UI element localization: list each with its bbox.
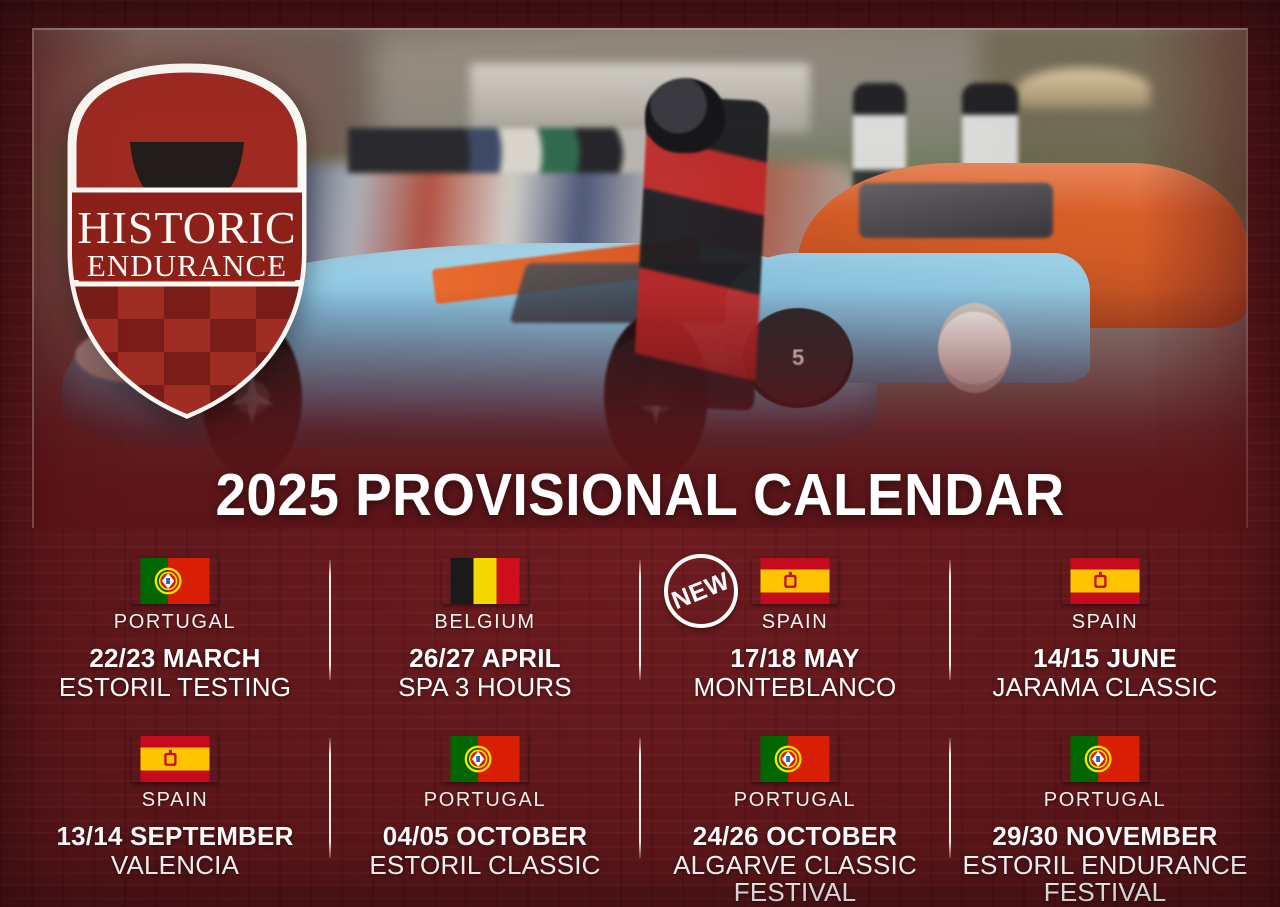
event-venue: ESTORIL CLASSIC (336, 852, 634, 880)
photo-porsche-window (859, 183, 1054, 238)
event-card-estoril-testing[interactable]: PORTUGAL 22/23 MARCH ESTORIL TESTING (20, 552, 330, 701)
event-dates: 22/23 MARCH (26, 644, 324, 673)
calendar-poster: 5 (0, 0, 1280, 907)
photo-tent (1017, 68, 1151, 108)
event-country: PORTUGAL (336, 788, 634, 813)
event-venue: ESTORIL ENDURANCE FESTIVAL (956, 852, 1254, 907)
event-country: SPAIN (956, 610, 1254, 635)
event-dates: 04/05 OCTOBER (336, 822, 634, 851)
event-country: PORTUGAL (26, 610, 324, 635)
event-venue: ESTORIL TESTING (26, 674, 324, 702)
event-dates: 26/27 APRIL (336, 644, 634, 673)
event-card-estoril-classic[interactable]: PORTUGAL 04/05 OCTOBER ESTORIL CLASSIC (330, 730, 640, 907)
portugal-flag-icon (442, 736, 528, 782)
event-country: BELGIUM (336, 610, 634, 635)
event-venue: VALENCIA (26, 852, 324, 880)
calendar-row-first-half: PORTUGAL 22/23 MARCH ESTORIL TESTING BEL… (20, 552, 1260, 701)
spain-flag-icon (752, 558, 838, 604)
photo-gulf-logo (938, 303, 1011, 393)
belgium-flag-icon (442, 558, 528, 604)
portugal-flag-icon (1062, 736, 1148, 782)
historic-endurance-logo: HISTORIC ENDURANCE (60, 38, 314, 428)
photo-driver-helmet (645, 78, 725, 153)
logo-endurance-text: ENDURANCE (87, 248, 287, 283)
event-card-valencia[interactable]: SPAIN 13/14 SEPTEMBER VALENCIA (20, 730, 330, 907)
event-country: PORTUGAL (646, 788, 944, 813)
new-badge: NEW (664, 554, 738, 628)
event-venue: JARAMA CLASSIC (956, 674, 1254, 702)
event-dates: 24/26 OCTOBER (646, 822, 944, 851)
new-badge-label: NEW (669, 568, 734, 614)
event-card-spa-3-hours[interactable]: BELGIUM 26/27 APRIL SPA 3 HOURS (330, 552, 640, 701)
event-dates: 29/30 NOVEMBER (956, 822, 1254, 851)
event-card-monteblanco[interactable]: NEW SPAIN 17/18 MAY MONTEBLANC (640, 552, 950, 701)
event-venue: ALGARVE CLASSIC FESTIVAL (646, 852, 944, 907)
event-country: PORTUGAL (956, 788, 1254, 813)
event-dates: 14/15 JUNE (956, 644, 1254, 673)
portugal-flag-icon (752, 736, 838, 782)
calendar-row-second-half: SPAIN 13/14 SEPTEMBER VALENCIA PORTUGAL (20, 730, 1260, 907)
event-card-estoril-endurance-festival[interactable]: PORTUGAL 29/30 NOVEMBER ESTORIL ENDURANC… (950, 730, 1260, 907)
event-card-algarve-classic-festival[interactable]: PORTUGAL 24/26 OCTOBER ALGARVE CLASSIC F… (640, 730, 950, 907)
event-dates: 13/14 SEPTEMBER (26, 822, 324, 851)
event-card-jarama-classic[interactable]: SPAIN 14/15 JUNE JARAMA CLASSIC (950, 552, 1260, 701)
spain-flag-icon (1062, 558, 1148, 604)
portugal-flag-icon (132, 558, 218, 604)
event-venue: SPA 3 HOURS (336, 674, 634, 702)
event-venue: MONTEBLANCO (646, 674, 944, 702)
logo-historic-text: HISTORIC (77, 202, 296, 253)
page-title: 2025 PROVISIONAL CALENDAR (45, 466, 1235, 525)
photo-car-number: 5 (743, 308, 852, 408)
event-country: SPAIN (26, 788, 324, 813)
spain-flag-icon (132, 736, 218, 782)
checker-pattern (72, 286, 302, 418)
event-dates: 17/18 MAY (646, 644, 944, 673)
calendar-grid: PORTUGAL 22/23 MARCH ESTORIL TESTING BEL… (20, 552, 1260, 907)
